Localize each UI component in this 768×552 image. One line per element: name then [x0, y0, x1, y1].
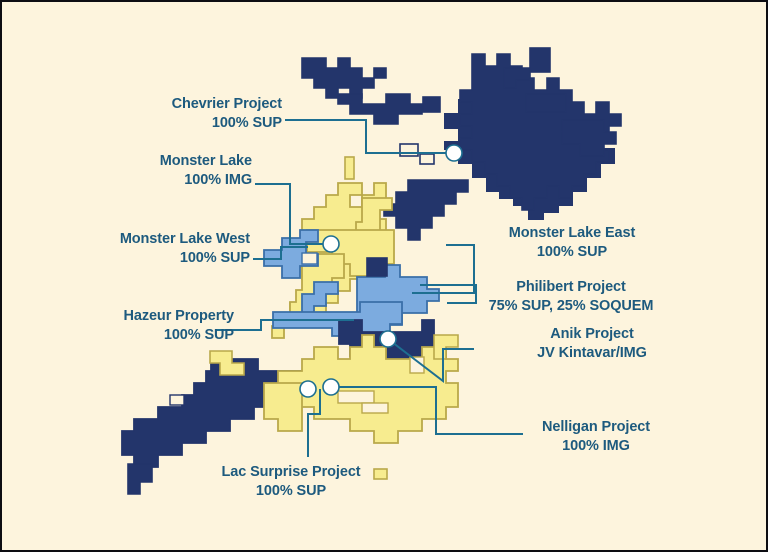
lac-surprise-marker[interactable] — [300, 381, 316, 397]
label-monster-lake-east[interactable]: Monster Lake East 100% SUP — [492, 224, 652, 262]
lac-surprise-sw-tab[interactable] — [128, 464, 152, 494]
nelligan-notch-1 — [338, 391, 374, 403]
label-hazeur-name: Hazeur Property — [94, 307, 234, 326]
label-hazeur[interactable]: Hazeur Property 100% SUP — [94, 307, 234, 345]
label-chevrier-name: Chevrier Project — [150, 95, 282, 114]
label-philibert-ownership: 75% SUP, 25% SOQUEM — [480, 297, 662, 316]
label-monster-lake-west-ownership: 100% SUP — [90, 249, 250, 268]
chevrier-leader-line — [285, 120, 454, 153]
anik-marker[interactable] — [380, 331, 396, 347]
label-monster-lake-east-name: Monster Lake East — [492, 224, 652, 243]
nelligan-marker[interactable] — [323, 379, 339, 395]
anik-small-block[interactable] — [367, 258, 387, 276]
property-location-map: Chevrier Project 100% SUP Monster Lake 1… — [0, 0, 768, 552]
chevrier-detached-block-ne-1[interactable] — [530, 48, 550, 72]
nelligan-lower-extension[interactable] — [264, 383, 302, 431]
label-anik-name: Anik Project — [522, 325, 662, 344]
label-nelligan-name: Nelligan Project — [526, 418, 666, 437]
label-philibert-name: Philibert Project — [480, 278, 662, 297]
chevrier-detached-square-1[interactable] — [423, 97, 440, 112]
map-canvas — [2, 2, 768, 552]
lac-surprise-notch — [170, 395, 184, 405]
label-monster-lake[interactable]: Monster Lake 100% IMG — [132, 152, 252, 190]
label-chevrier-ownership: 100% SUP — [150, 114, 282, 133]
chevrier-south-tail[interactable] — [384, 180, 468, 240]
monster-lake-sliver[interactable] — [345, 157, 354, 179]
label-hazeur-ownership: 100% SUP — [94, 326, 234, 345]
monster-lake-marker[interactable] — [323, 236, 339, 252]
chevrier-marker[interactable] — [446, 145, 462, 161]
label-nelligan[interactable]: Nelligan Project 100% IMG — [526, 418, 666, 456]
label-monster-lake-name: Monster Lake — [132, 152, 252, 171]
label-philibert[interactable]: Philibert Project 75% SUP, 25% SOQUEM — [480, 278, 662, 316]
label-monster-lake-west[interactable]: Monster Lake West 100% SUP — [90, 230, 250, 268]
label-lac-surprise[interactable]: Lac Surprise Project 100% SUP — [206, 463, 376, 501]
label-lac-surprise-ownership: 100% SUP — [206, 482, 376, 501]
chevrier-notch-1 — [400, 144, 418, 156]
nelligan-notch-2 — [362, 403, 388, 413]
label-anik-ownership: JV Kintavar/IMG — [522, 344, 662, 363]
chevrier-nw-chain[interactable] — [302, 58, 386, 98]
monster-lake-west-notch — [302, 253, 317, 264]
label-monster-lake-ownership: 100% IMG — [132, 171, 252, 190]
label-monster-lake-west-name: Monster Lake West — [90, 230, 250, 249]
label-lac-surprise-name: Lac Surprise Project — [206, 463, 376, 482]
nelligan-east-arm[interactable] — [434, 335, 458, 359]
label-nelligan-ownership: 100% IMG — [526, 437, 666, 456]
label-anik[interactable]: Anik Project JV Kintavar/IMG — [522, 325, 662, 363]
chevrier-detached-block-e[interactable] — [526, 94, 566, 112]
label-chevrier[interactable]: Chevrier Project 100% SUP — [150, 95, 282, 133]
label-monster-lake-east-ownership: 100% SUP — [492, 243, 652, 262]
chevrier-notch-2 — [420, 154, 434, 164]
